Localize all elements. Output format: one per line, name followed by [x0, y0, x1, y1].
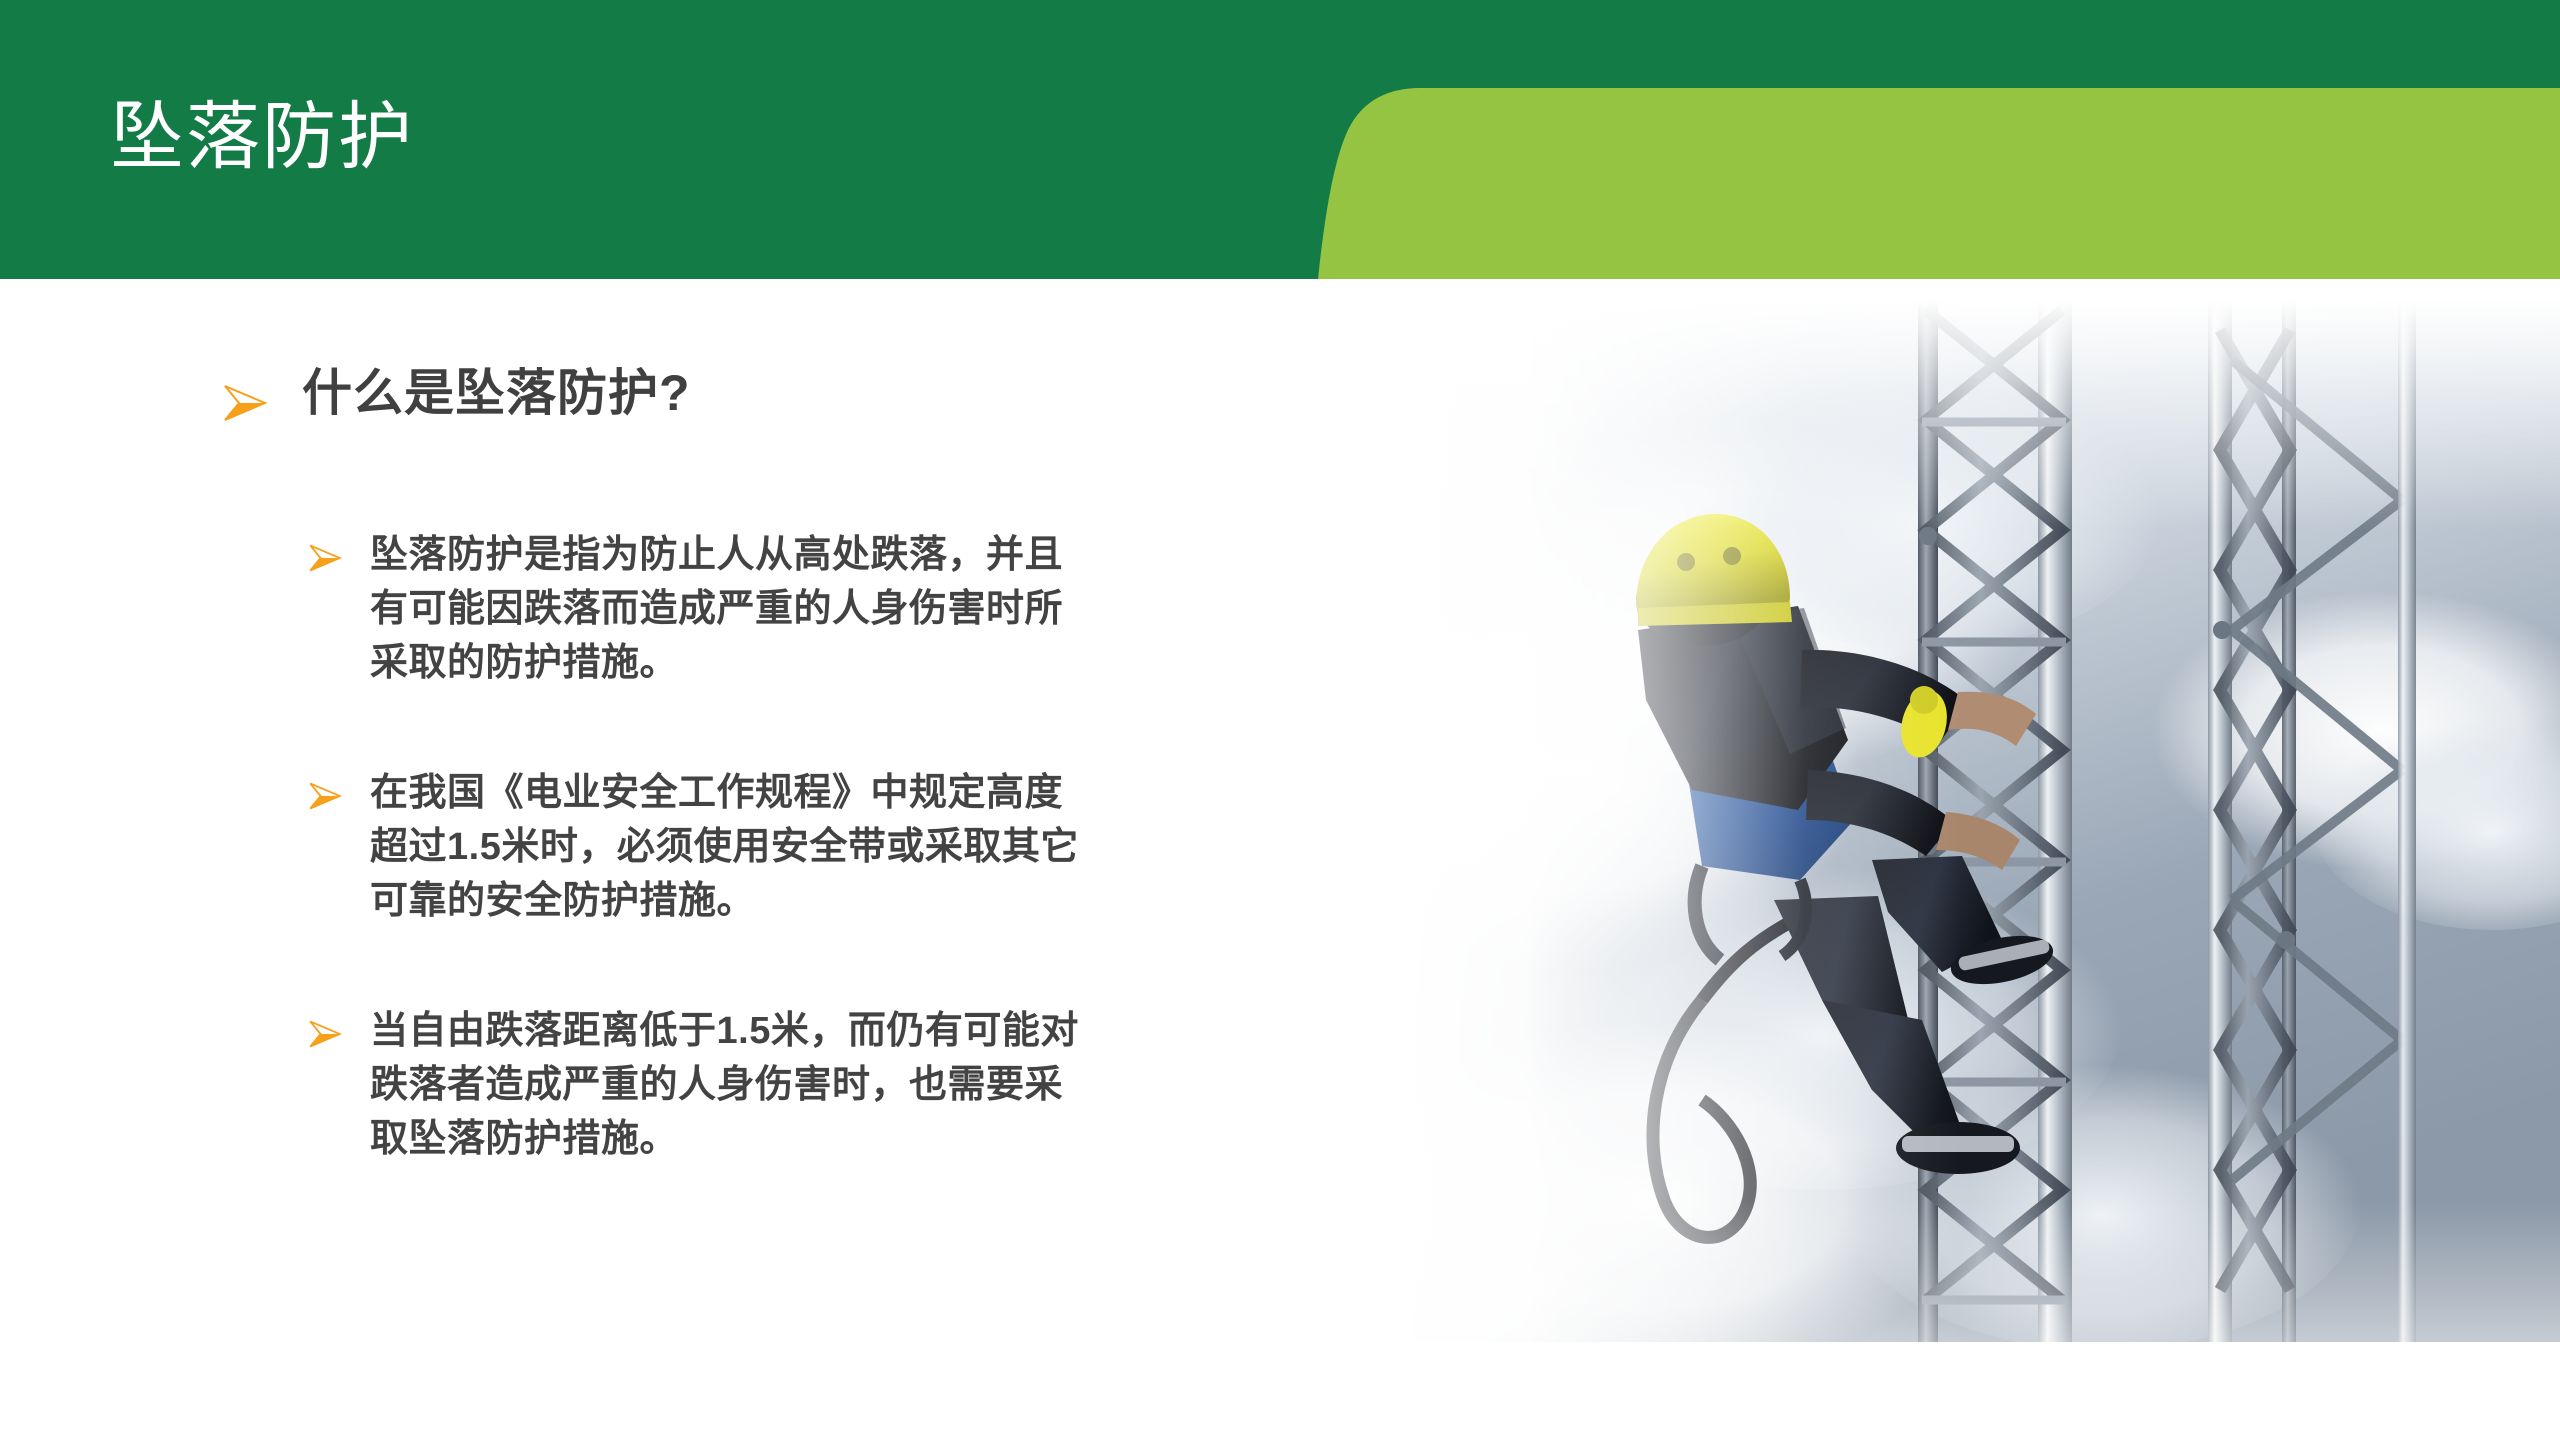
bullet-paragraph-text: 当自由跌落距离低于1.5米，而仍有可能对跌落者造成严重的人身伤害时，也需要采取坠…: [370, 1005, 1085, 1167]
slide-content: 什么是坠落防护? 坠落防护是指为防止人从高处跌落，并且有可能因跌落而造成严重的人…: [0, 279, 1400, 1440]
worker-climbing-lattice-tower-photo: [1402, 300, 2560, 1342]
arrow-bullet-icon: [222, 383, 268, 428]
bullet-paragraph-text: 在我国《电业安全工作规程》中规定高度超过1.5米时，必须使用安全带或采取其它可靠…: [370, 767, 1100, 929]
tower-climber-illustration: [1402, 300, 2560, 1342]
bullet-paragraph: 当自由跌落距离低于1.5米，而仍有可能对跌落者造成严重的人身伤害时，也需要采取坠…: [308, 1005, 1318, 1167]
arrow-bullet-icon: [308, 1019, 342, 1054]
bullet-paragraph-text: 坠落防护是指为防止人从高处跌落，并且有可能因跌落而造成严重的人身伤害时所采取的防…: [370, 529, 1070, 691]
section-heading: 什么是坠落防护?: [222, 365, 691, 428]
section-heading-text: 什么是坠落防护?: [302, 365, 691, 423]
bullet-paragraph: 坠落防护是指为防止人从高处跌落，并且有可能因跌落而造成严重的人身伤害时所采取的防…: [308, 529, 1318, 691]
page-title: 坠落防护: [110, 96, 414, 177]
slide-header: 坠落防护: [0, 0, 2560, 279]
slide: 坠落防护: [0, 0, 2560, 1440]
arrow-bullet-icon: [308, 543, 342, 578]
arrow-bullet-icon: [308, 781, 342, 816]
bullet-paragraph-list: 坠落防护是指为防止人从高处跌落，并且有可能因跌落而造成严重的人身伤害时所采取的防…: [308, 529, 1318, 1167]
bullet-paragraph: 在我国《电业安全工作规程》中规定高度超过1.5米时，必须使用安全带或采取其它可靠…: [308, 767, 1318, 929]
